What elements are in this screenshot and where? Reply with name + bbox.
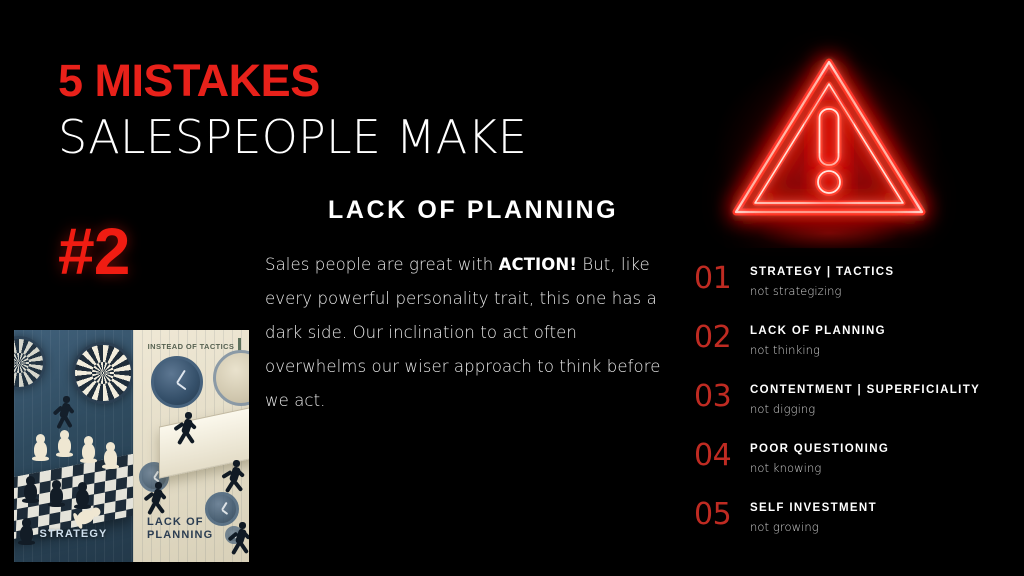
illustration-left-panel: STRATEGY (14, 330, 133, 562)
slide-canvas: 5 MISTAKES SALESPEOPLE MAKE #2 LACK OF P… (0, 0, 1024, 576)
list-item-subtitle: not thinking (750, 343, 820, 357)
list-item-number: 03 (694, 382, 731, 412)
list-item-number: 01 (694, 264, 731, 294)
neon-warning-triangle-icon (700, 22, 958, 262)
clock-icon (151, 356, 203, 408)
headline-line-1: 5 MISTAKES (58, 58, 527, 103)
list-item[interactable]: 02 LACK OF PLANNING not thinking (694, 321, 1014, 380)
list-item-number: 02 (694, 323, 731, 353)
list-item-subtitle: not growing (750, 520, 819, 534)
list-item-number: 05 (694, 500, 731, 530)
warning-triangle-image (700, 22, 958, 262)
list-item-title: POOR QUESTIONING (750, 443, 889, 455)
rank-number: #2 (58, 218, 129, 284)
list-item-subtitle: not knowing (750, 461, 821, 475)
list-item-title: LACK OF PLANNING (750, 325, 886, 337)
section-sub-heading: LACK OF PLANNING (328, 196, 618, 225)
list-item[interactable]: 04 POOR QUESTIONING not knowing (694, 439, 1014, 498)
dartboard-icon (72, 342, 133, 404)
mistakes-list: 01 STRATEGY | TACTICS not strategizing 0… (694, 262, 1014, 557)
illustration-right-caption: LACK OF PLANNING (133, 516, 249, 542)
body-text-part-2: But, like every powerful personality tra… (265, 255, 660, 410)
body-text-part-1: Sales people are great with (265, 255, 499, 274)
body-text-emphasis: ACTION! (499, 255, 577, 274)
list-item-title: STRATEGY | TACTICS (750, 266, 894, 278)
strategy-vs-planning-illustration: STRATEGY INSTEAD OF TACTICS (14, 330, 249, 562)
list-item[interactable]: 05 SELF INVESTMENT not growing (694, 498, 1014, 557)
illustration-right-top-label: INSTEAD OF TACTICS (133, 342, 249, 351)
list-item[interactable]: 03 CONTENTMENT | SUPERFICIALITY not digg… (694, 380, 1014, 439)
headline-block: 5 MISTAKES SALESPEOPLE MAKE (58, 58, 527, 164)
list-item-title: CONTENTMENT | SUPERFICIALITY (750, 384, 980, 396)
illustration-right-panel: INSTEAD OF TACTICS (133, 330, 249, 562)
list-item[interactable]: 01 STRATEGY | TACTICS not strategizing (694, 262, 1014, 321)
list-item-subtitle: not strategizing (750, 284, 841, 298)
headline-line-2: SALESPEOPLE MAKE (58, 111, 527, 164)
list-item-title: SELF INVESTMENT (750, 502, 877, 514)
list-item-number: 04 (694, 441, 731, 471)
body-paragraph: Sales people are great with ACTION! But,… (265, 248, 677, 418)
illustration-left-caption: STRATEGY (14, 528, 133, 540)
list-item-subtitle: not digging (750, 402, 815, 416)
